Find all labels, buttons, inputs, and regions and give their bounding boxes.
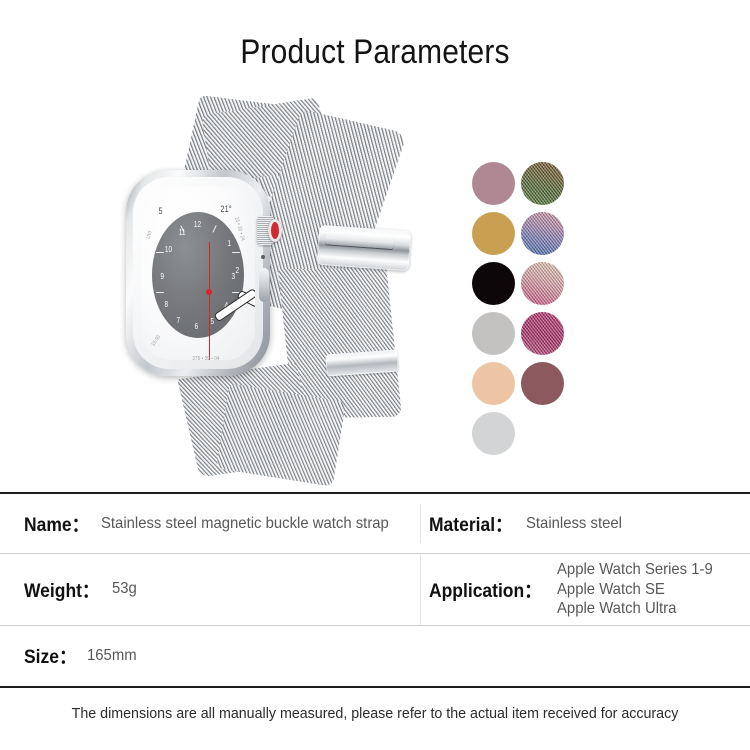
color-swatch-magenta[interactable] — [521, 312, 564, 355]
dial-numeral-3: 3 — [231, 272, 235, 281]
color-swatch-light-gray[interactable] — [472, 312, 515, 355]
color-swatch-cream-pink-gradient[interactable] — [521, 262, 564, 305]
product-image-watch: 12 1 2 3 4 5 6 7 8 9 10 11 — [118, 100, 448, 480]
dial-numeral-2: 2 — [235, 266, 239, 275]
magnetic-buckle-clasp — [317, 225, 412, 271]
side-button — [259, 268, 269, 302]
color-swatch-dusty-mauve[interactable] — [472, 162, 515, 205]
dial-numeral-10: 10 — [165, 245, 172, 254]
uv-index-complication: UVI — [146, 230, 154, 239]
color-swatch-beige-tan[interactable] — [472, 362, 515, 405]
time-complication: 15:00 — [151, 334, 163, 347]
color-swatch-silver-gray[interactable] — [472, 412, 515, 455]
digital-crown-red-ring — [268, 219, 282, 242]
watch-dial: 12 1 2 3 4 5 6 7 8 9 10 11 — [152, 212, 244, 338]
swatch-row — [472, 212, 584, 255]
watch-case: 12 1 2 3 4 5 6 7 8 9 10 11 — [126, 170, 270, 376]
temperature-complication: 21° — [220, 204, 231, 214]
swatch-row — [472, 312, 584, 355]
table-row: Size： 165mm — [0, 626, 750, 686]
spec-label-size: Size： — [24, 642, 76, 669]
dial-tick — [212, 225, 217, 233]
spec-cell-name: Name： Stainless steel magnetic buckle wa… — [0, 504, 420, 543]
spec-label-name: Name： — [24, 510, 89, 537]
product-hero: 12 1 2 3 4 5 6 7 8 9 10 11 — [0, 100, 750, 480]
dial-numeral-8: 8 — [164, 300, 168, 309]
spec-value-material: Stainless steel — [526, 515, 622, 533]
color-swatch-gold[interactable] — [472, 212, 515, 255]
spec-label-application: Application： — [429, 576, 542, 603]
color-swatch-brown-green-camo[interactable] — [521, 162, 564, 205]
dial-tick — [232, 252, 240, 253]
dial-tick — [156, 292, 164, 293]
microphone-hole — [261, 255, 265, 259]
dial-numeral-6: 6 — [194, 322, 198, 331]
dial-numeral-12: 12 — [194, 220, 201, 229]
spec-cell-application: Application： Apple Watch Series 1-9 Appl… — [420, 554, 750, 625]
table-row: Name： Stainless steel magnetic buckle wa… — [0, 494, 750, 554]
watch-hand-pivot — [206, 289, 212, 295]
color-swatch-black[interactable] — [472, 262, 515, 305]
page-title: Product Parameters — [45, 33, 705, 72]
dial-numeral-5: 5 — [210, 317, 214, 326]
watch-minute-hand — [213, 288, 255, 322]
color-swatch-grid — [472, 162, 584, 462]
spec-value-size: 165mm — [87, 647, 137, 665]
spec-value-weight: 53g — [112, 580, 137, 598]
dial-tick — [156, 252, 164, 253]
swatch-row — [472, 362, 584, 405]
dial-numeral-1: 1 — [227, 239, 231, 248]
left-complication-value: 5 — [159, 206, 163, 216]
color-swatch-empty-slot — [521, 412, 564, 455]
watch-second-hand — [209, 242, 211, 360]
swatch-row — [472, 262, 584, 305]
spec-cell-weight: Weight： 53g — [0, 570, 420, 609]
spec-cell-material: Material： Stainless steel — [420, 504, 750, 543]
dial-numeral-7: 7 — [176, 316, 180, 325]
swatch-row — [472, 412, 584, 455]
color-swatch-dusty-rose-brown[interactable] — [521, 362, 564, 405]
spec-value-name: Stainless steel magnetic buckle watch st… — [101, 515, 389, 533]
watch-bezel: 12 1 2 3 4 5 6 7 8 9 10 11 — [133, 177, 263, 369]
color-swatch-pink-blue-gradient[interactable] — [521, 212, 564, 255]
footer-disclaimer: The dimensions are all manually measured… — [19, 705, 732, 722]
table-row: Weight： 53g Application： Apple Watch Ser… — [0, 554, 750, 626]
activity-complication: 375 • 39 • 04 — [192, 356, 219, 360]
spec-cell-size: Size： 165mm — [0, 636, 750, 675]
swatch-row — [472, 162, 584, 205]
spec-table: Name： Stainless steel magnetic buckle wa… — [0, 492, 750, 688]
dial-numeral-9: 9 — [160, 272, 164, 281]
watch-screen: 12 1 2 3 4 5 6 7 8 9 10 11 — [141, 186, 255, 360]
spec-value-application: Apple Watch Series 1-9 Apple Watch SE Ap… — [557, 560, 713, 619]
spec-label-material: Material： — [429, 510, 513, 537]
strap-lower-fold — [216, 383, 346, 486]
spec-label-weight: Weight： — [24, 576, 99, 603]
